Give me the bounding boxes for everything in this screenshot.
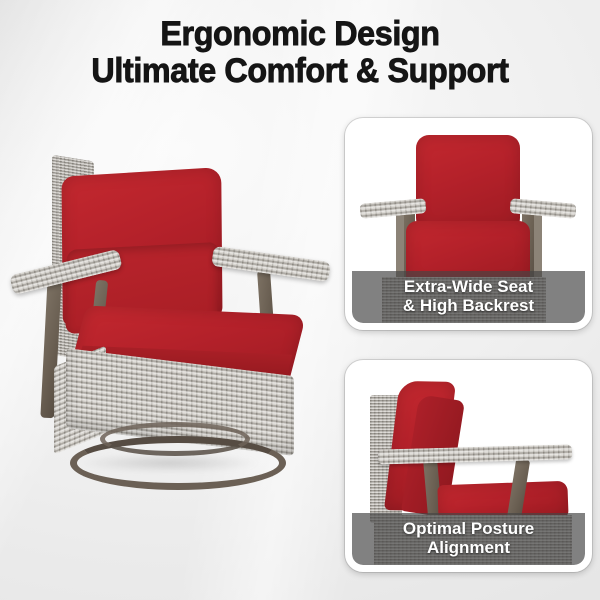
feature-panel-extra-wide-seat: Extra-Wide Seat & High Backrest [345,118,592,330]
caption-line-1: Optimal Posture [354,519,583,538]
product-feature-image: Ergonomic Design Ultimate Comfort & Supp… [0,0,600,600]
hero-swivel-ring-inner [100,422,250,456]
headline-line-2: Ultimate Comfort & Support [15,53,585,90]
page-title: Ergonomic Design Ultimate Comfort & Supp… [0,16,600,91]
headline-line-1: Ergonomic Design [15,16,585,53]
front-backrest-cushion [416,135,520,231]
feature-panel-optimal-posture: Optimal Posture Alignment [345,360,592,572]
caption-line-1: Extra-Wide Seat [354,277,583,296]
caption-line-2: Alignment [354,538,583,557]
hero-right-armrest [211,246,331,282]
panel-caption-optimal-posture: Optimal Posture Alignment [352,513,585,565]
caption-line-2: & High Backrest [354,296,583,315]
panel-caption-extra-wide-seat: Extra-Wide Seat & High Backrest [352,271,585,323]
hero-product-image [4,150,334,500]
